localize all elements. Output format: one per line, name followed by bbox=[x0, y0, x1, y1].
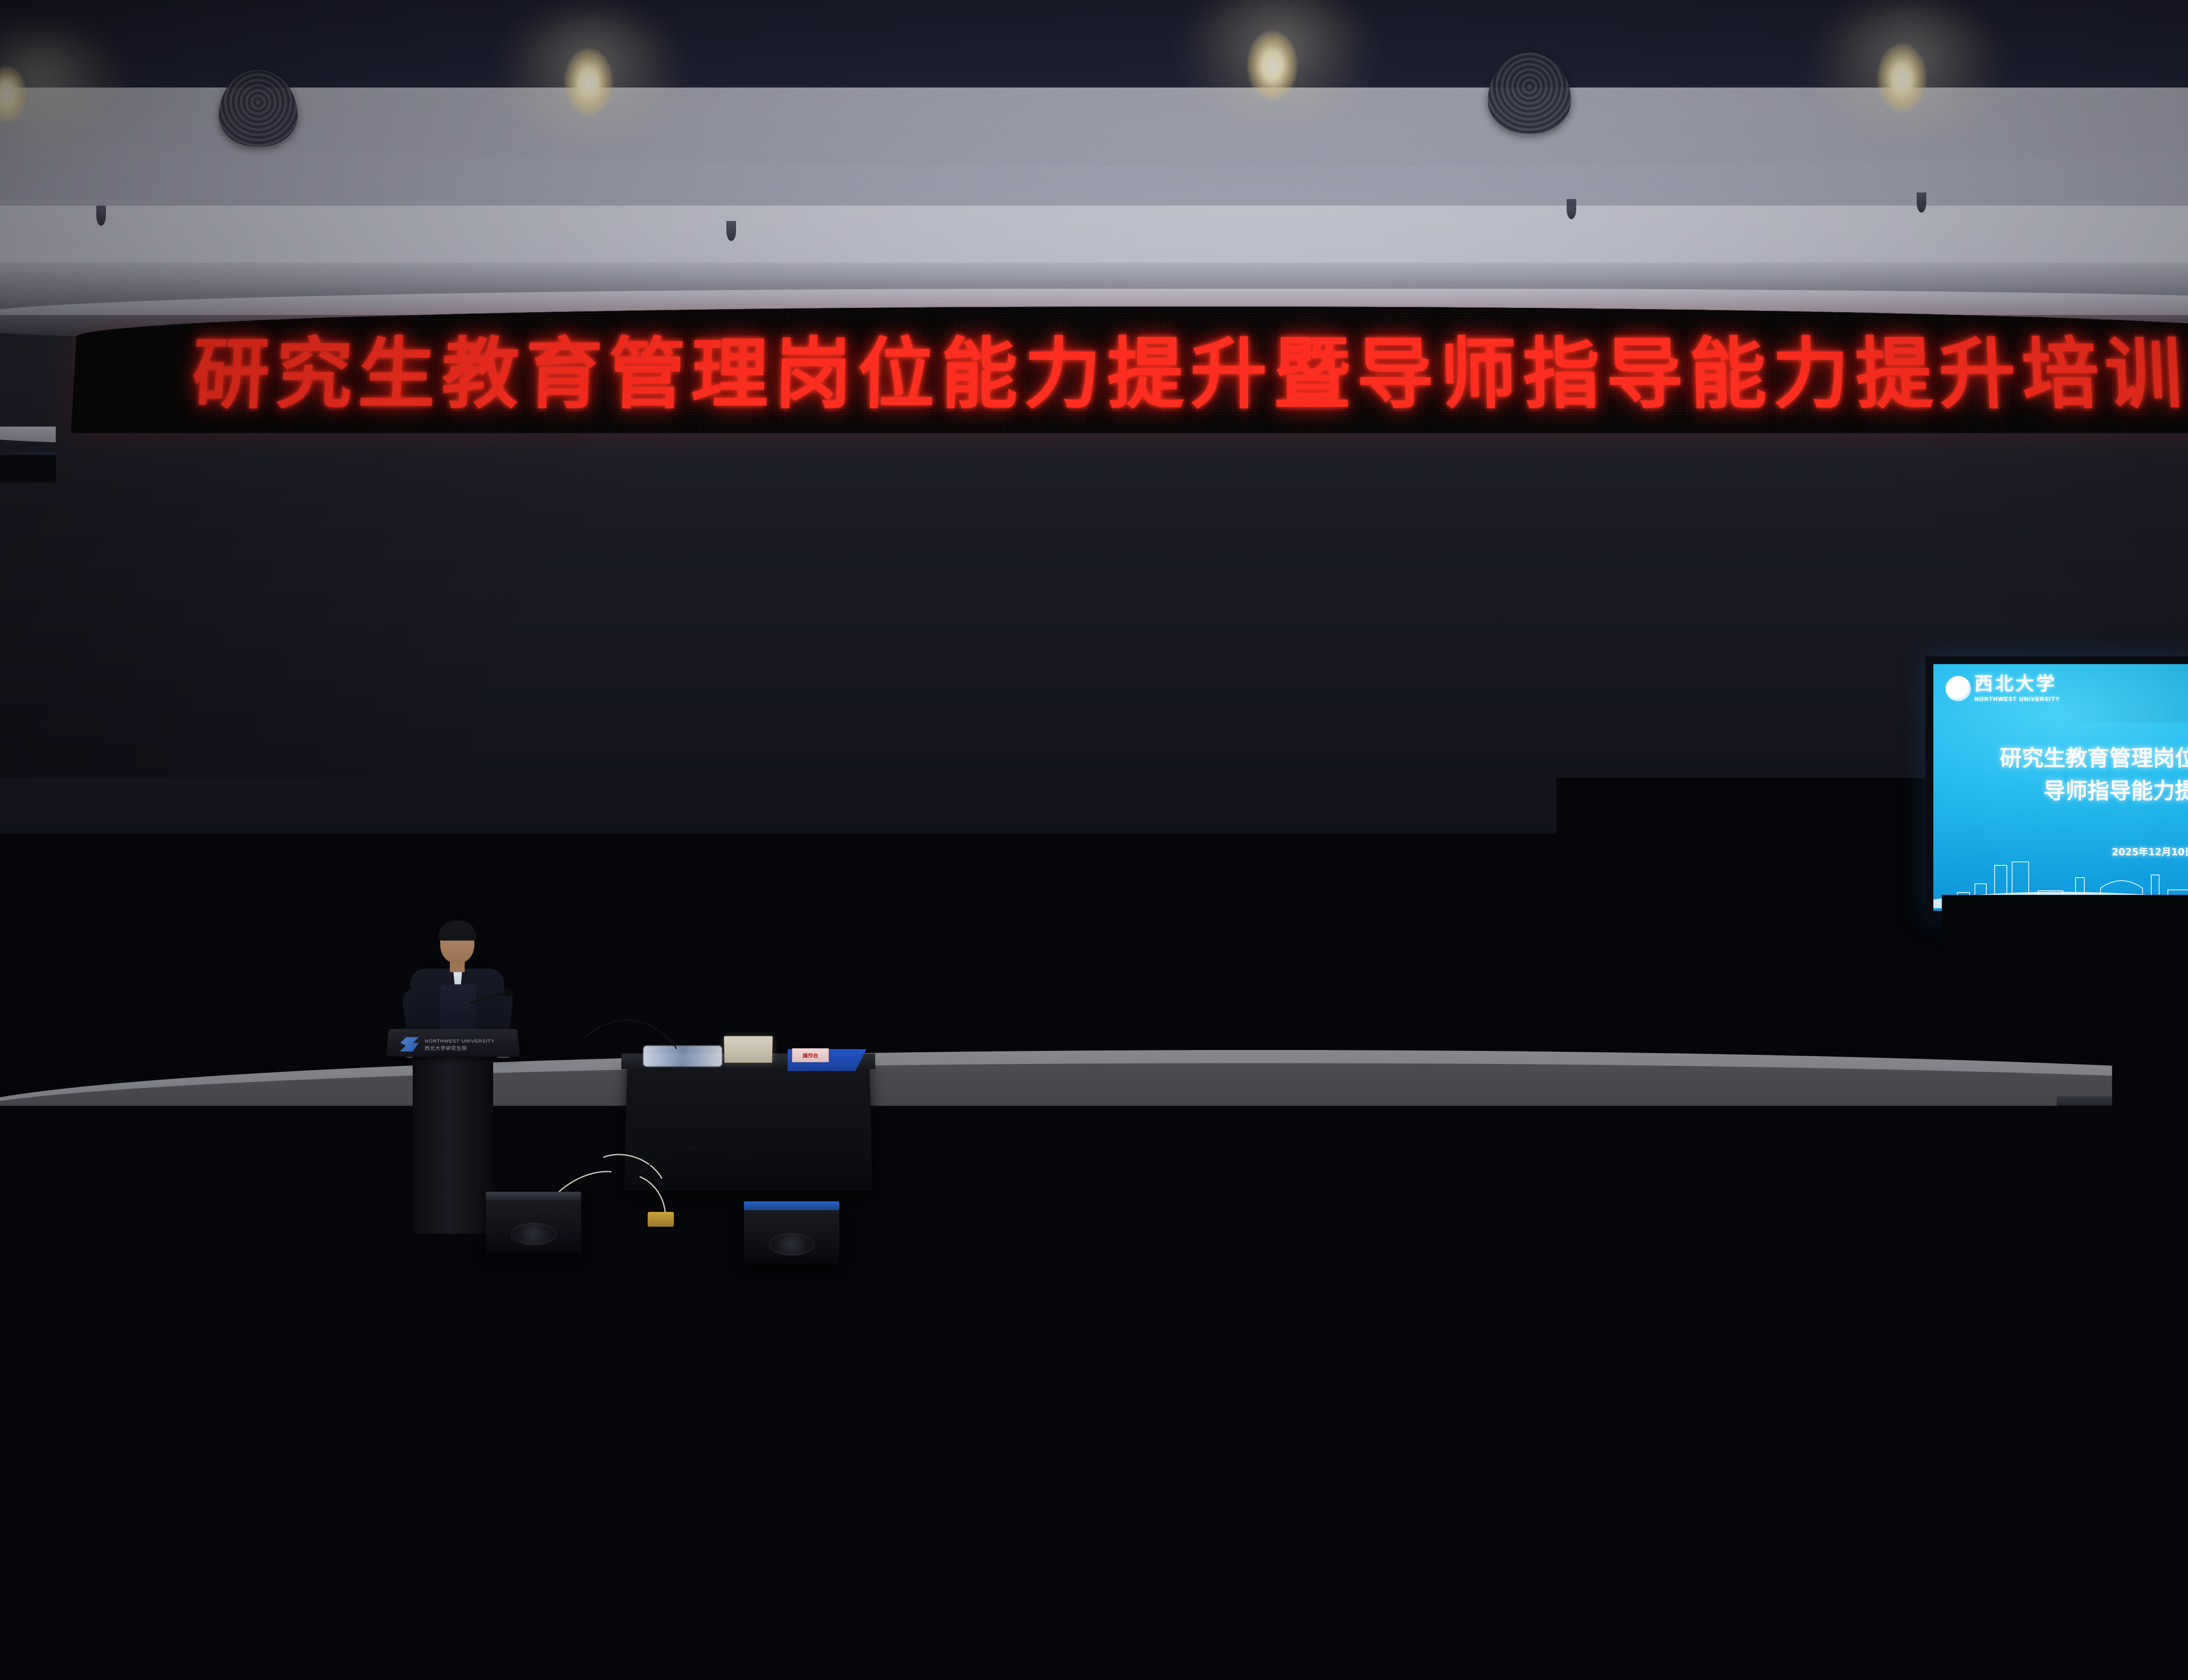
name-placard: 历史学院 bbox=[1774, 1294, 1816, 1316]
side-left-skyline bbox=[8, 885, 468, 942]
ceiling-downlight bbox=[1247, 31, 1297, 101]
side-left-title: 研究生教育管理岗位能力提升暨 导师指导能力提升培训 bbox=[8, 769, 468, 837]
speaker-cone bbox=[1844, 1205, 1889, 1227]
side-right-logo-cn: 西北大学 bbox=[1974, 675, 2060, 693]
ceiling-sprinkler-icon bbox=[726, 221, 736, 241]
projection-screen: 西北大学 NORTHWEST UNIVERSITY 研究生教育管理岗位能力提升暨… bbox=[759, 553, 1639, 1022]
podium-nameplate: NORTHWEST UNIVERSITY 西北大学研究生院 bbox=[424, 1038, 495, 1052]
placard-text: 法学院 bbox=[1910, 1287, 1930, 1297]
equipment-case bbox=[1952, 1159, 2052, 1229]
ceiling-downlight bbox=[1877, 44, 1926, 113]
name-placard: 地质学院 bbox=[1407, 1302, 1447, 1323]
cabinet-top-face bbox=[1952, 1149, 2052, 1162]
name-placard: 经管学院 bbox=[761, 1295, 802, 1316]
name-placard: 法学院 bbox=[1899, 1280, 1941, 1302]
audience-person-olive-jacket bbox=[1041, 1584, 1168, 1680]
placard-text: 生命学院 bbox=[1578, 1311, 1604, 1321]
auditorium-photo: 研究生教育管理岗位能力提升暨导师指导能力提升培训 bbox=[0, 0, 2188, 1680]
side-right-skyline bbox=[1933, 853, 2188, 908]
audience-person-light-jacket bbox=[66, 1557, 197, 1680]
desk-microphone bbox=[897, 1310, 904, 1337]
table-placard: 操作台 bbox=[792, 1048, 829, 1062]
side-monitor-left-frame: 西北大学 NORTHWEST UNIVERSITY 研究生教育管理岗位能力提升暨… bbox=[0, 678, 477, 954]
stage-monitor-speaker bbox=[1820, 1181, 1913, 1235]
wall-control-plate bbox=[1698, 717, 1729, 737]
side-right-title-line2: 导师指导能力提升培训 bbox=[1933, 775, 2188, 808]
placard-text: 历史学院 bbox=[1782, 1300, 1808, 1309]
side-monitor-right-screen: 西北大学 NORTHWEST UNIVERSITY 研究生教育管理岗位能力提升暨… bbox=[1933, 664, 2188, 911]
side-right-title-line1: 研究生教育管理岗位能力提升暨 bbox=[1933, 742, 2188, 775]
subwoofer-cabinet bbox=[2057, 1107, 2188, 1207]
placard-text: 食品学院 bbox=[2147, 1282, 2172, 1291]
wall-projector bbox=[1785, 626, 1838, 656]
speaker-top-face bbox=[1602, 1192, 1694, 1200]
name-placard: 化工学院 bbox=[239, 1298, 281, 1320]
speaker-top-face bbox=[1820, 1174, 1913, 1183]
logo-english-name: NORTHWEST UNIVERSITY bbox=[862, 628, 1112, 645]
cabinet-top-face bbox=[184, 1136, 359, 1149]
placard-text: 文学院 bbox=[600, 1302, 620, 1312]
led-banner-text: 研究生教育管理岗位能力提升暨导师指导能力提升培训 bbox=[190, 311, 2188, 423]
placard-text: 外语学院 bbox=[401, 1311, 426, 1320]
university-seal-icon bbox=[788, 582, 850, 644]
placard-text: 艺术学院 bbox=[1154, 1315, 1178, 1323]
placard-text: 地质学院 bbox=[1414, 1308, 1440, 1317]
placard-text: 信息学院 bbox=[959, 1313, 985, 1323]
name-placard: 数学学院 bbox=[2043, 1281, 2084, 1302]
audience-person-cream-coat bbox=[1453, 1312, 1545, 1382]
side-left-title-line1: 研究生教育管理岗位能力提升暨 bbox=[8, 769, 468, 803]
screen-title-line2: 导师指导能力提升培训 bbox=[759, 767, 1639, 836]
screen-university-logo: 西北大学 NORTHWEST UNIVERSITY bbox=[788, 581, 1112, 645]
ceiling-downlight bbox=[565, 48, 613, 116]
logo-text-block: 西北大学 NORTHWEST UNIVERSITY bbox=[862, 581, 1112, 645]
side-right-logo: 西北大学 NORTHWEST UNIVERSITY bbox=[1946, 675, 2060, 702]
audience-person-green-vest bbox=[1505, 1431, 1619, 1522]
desk-microphone bbox=[302, 1305, 309, 1332]
side-right-logo-en: NORTHWEST UNIVERSITY bbox=[1974, 696, 2060, 702]
desk-microphone bbox=[1978, 1282, 1985, 1307]
speaker-top-face bbox=[1361, 1200, 1453, 1209]
laptop-on-table bbox=[724, 1036, 772, 1063]
name-placard: 外语学院 bbox=[393, 1305, 434, 1326]
podium-logo-icon bbox=[400, 1037, 419, 1052]
ceiling-sprinkler-icon bbox=[96, 206, 106, 226]
name-placard: 艺术学院 bbox=[1147, 1309, 1186, 1329]
speaker-top-face bbox=[987, 1205, 1082, 1214]
name-placard: 信息学院 bbox=[952, 1307, 993, 1328]
screen-bottom-glow bbox=[759, 872, 1639, 1022]
desk-microphone bbox=[1698, 1295, 1705, 1321]
side-left-logo-en: NORTHWEST UNIVERSITY bbox=[52, 719, 143, 726]
podium-nameplate-line1: NORTHWEST UNIVERSITY bbox=[425, 1038, 495, 1045]
phone-screen bbox=[2129, 1495, 2159, 1541]
side-right-title: 研究生教育管理岗位能力提升暨 导师指导能力提升培训 bbox=[1933, 742, 2188, 808]
podium-nameplate-line2: 西北大学研究生院 bbox=[424, 1045, 495, 1052]
speaker-top-face bbox=[744, 1201, 839, 1210]
podium-desktop: NORTHWEST UNIVERSITY 西北大学研究生院 bbox=[386, 1029, 520, 1057]
table-placard-text: 操作台 bbox=[803, 1052, 818, 1059]
placard-text: 化工学院 bbox=[247, 1304, 273, 1314]
name-placard: 文学院 bbox=[589, 1295, 631, 1317]
wall-control-plate bbox=[674, 731, 705, 751]
logo-chinese-name: 西北大学 bbox=[862, 581, 1112, 623]
screen-title-line1: 研究生教育管理岗位能力提升暨 bbox=[759, 698, 1639, 767]
drape-fold bbox=[534, 464, 545, 1076]
name-placard: 生命学院 bbox=[1571, 1305, 1612, 1327]
university-seal-icon bbox=[21, 698, 48, 725]
desk-microphone bbox=[683, 1299, 690, 1326]
name-placard: 食品学院 bbox=[2139, 1276, 2180, 1297]
side-monitor-right-frame: 西北大学 NORTHWEST UNIVERSITY 研究生教育管理岗位能力提升暨… bbox=[1925, 656, 2188, 919]
cabinet-top-face bbox=[2057, 1096, 2188, 1109]
presenter-hair bbox=[438, 920, 476, 941]
ceiling-sprinkler-icon bbox=[1567, 199, 1576, 219]
university-seal-icon bbox=[1946, 676, 1971, 701]
desk-microphone bbox=[516, 1302, 523, 1329]
side-left-logo-cn: 西北大学 bbox=[52, 697, 143, 717]
placard-text: 数学学院 bbox=[2051, 1287, 2076, 1297]
side-left-logo: 西北大学 NORTHWEST UNIVERSITY bbox=[21, 697, 143, 726]
desk-microphone bbox=[1225, 1311, 1232, 1338]
led-banner: 研究生教育管理岗位能力提升暨导师指导能力提升培训 bbox=[71, 307, 2188, 434]
side-left-title-line2: 导师指导能力提升培训 bbox=[8, 803, 468, 837]
subwoofer-cabinet bbox=[184, 1146, 359, 1247]
ceiling-sprinkler-icon bbox=[1917, 192, 1926, 213]
podium-column bbox=[413, 1053, 493, 1234]
side-monitor-left-screen: 西北大学 NORTHWEST UNIVERSITY 研究生教育管理岗位能力提升暨… bbox=[8, 686, 468, 946]
screen-title: 研究生教育管理岗位能力提升暨 导师指导能力提升培训 bbox=[759, 698, 1639, 836]
speaker-top-face bbox=[486, 1192, 581, 1200]
placard-text: 经管学院 bbox=[768, 1301, 795, 1310]
